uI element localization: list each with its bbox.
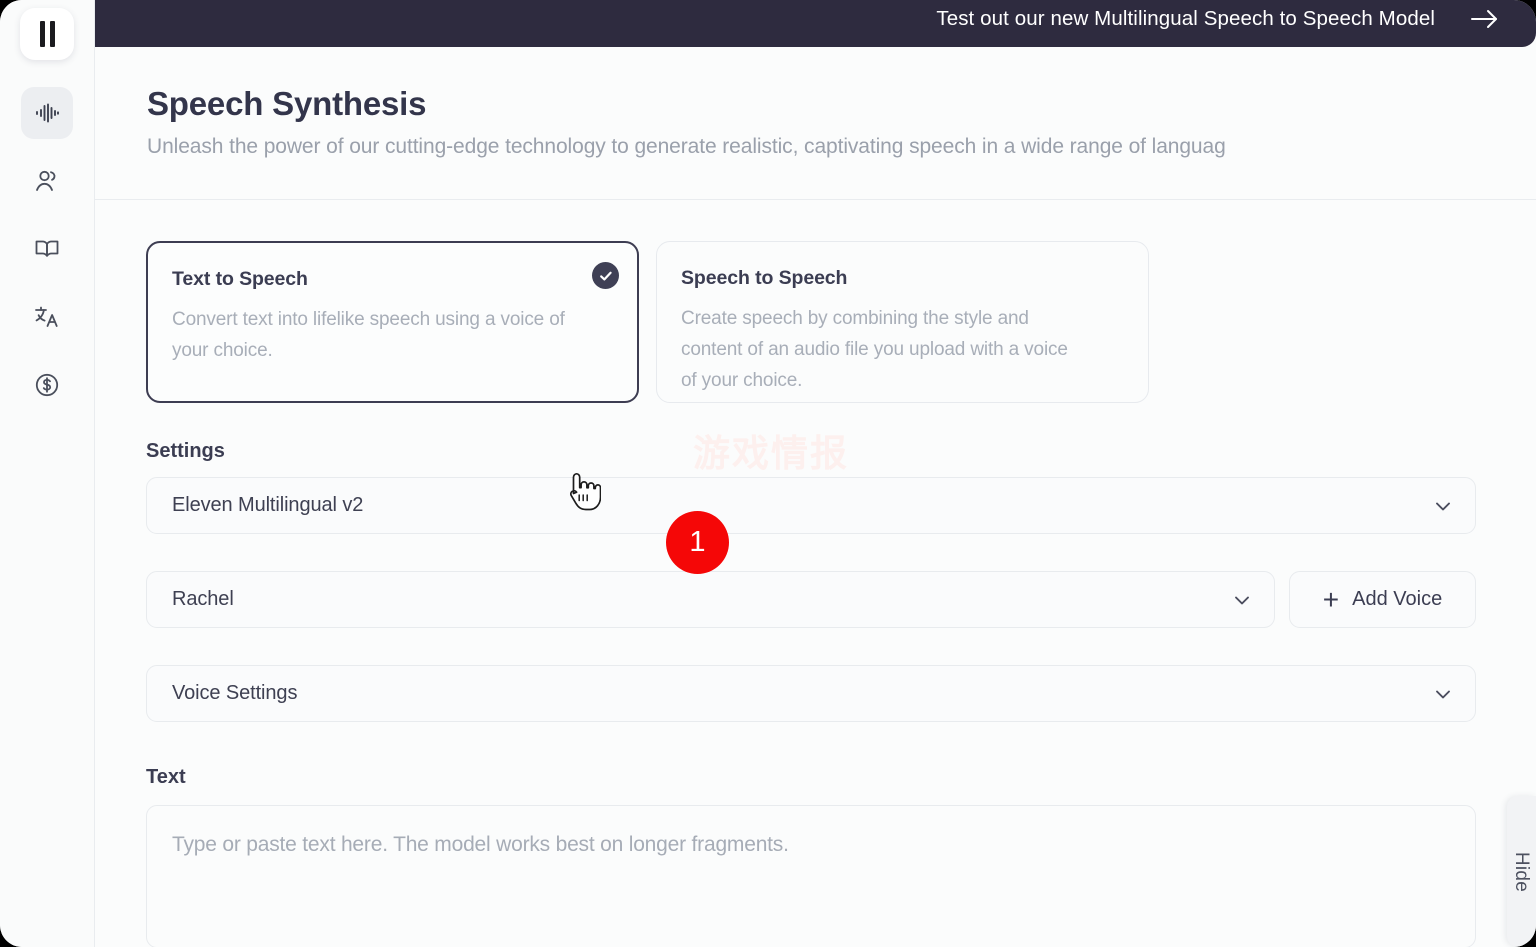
mode-card-speech-to-speech[interactable]: Speech to Speech Create speech by combin… — [656, 241, 1149, 403]
chevron-down-icon[interactable] — [1432, 683, 1454, 705]
mode-card-title: Speech to Speech — [681, 267, 1121, 290]
voice-select-row: Rachel + Add Voice — [146, 571, 1476, 628]
promo-banner[interactable]: Test out our new Multilingual Speech to … — [95, 0, 1536, 47]
watermark-line-cn: 游戏情报 — [665, 432, 877, 476]
mode-card-title: Text to Speech — [172, 268, 610, 291]
voices-people-icon — [32, 166, 62, 196]
voice-settings-row: Voice Settings — [146, 665, 1476, 722]
check-circle-icon — [592, 262, 619, 289]
page-title: Speech Synthesis — [147, 85, 426, 123]
voice-settings-select[interactable]: Voice Settings — [146, 665, 1476, 722]
sidebar-item-projects[interactable] — [21, 223, 73, 275]
mode-card-description: Create speech by combining the style and… — [681, 303, 1081, 396]
sidebar-item-speech-synthesis[interactable] — [21, 87, 73, 139]
sidebar-item-voices[interactable] — [21, 155, 73, 207]
chevron-down-icon[interactable] — [1432, 495, 1454, 517]
model-select-value: Eleven Multilingual v2 — [172, 494, 363, 517]
open-book-icon — [32, 234, 62, 264]
sidebar-item-subscription[interactable] — [21, 359, 73, 411]
add-voice-label: Add Voice — [1352, 588, 1442, 611]
step-badge-number: 1 — [689, 526, 705, 559]
text-section-label: Text — [146, 766, 186, 789]
mode-card-description: Convert text into lifelike speech using … — [172, 304, 572, 366]
text-input[interactable]: Type or paste text here. The model works… — [146, 805, 1476, 947]
app-window: Test out our new Multilingual Speech to … — [0, 0, 1536, 947]
audio-waveform-icon — [32, 98, 62, 128]
mode-card-text-to-speech[interactable]: Text to Speech Convert text into lifelik… — [146, 241, 639, 403]
main-content: 游戏情报 Gamedivert Text to Speech Convert t… — [95, 200, 1536, 947]
plus-icon: + — [1323, 589, 1339, 611]
chevron-down-icon[interactable] — [1231, 589, 1253, 611]
app-logo-button[interactable] — [20, 8, 74, 60]
hide-panel-toggle-label: Hide — [1511, 851, 1533, 891]
model-select[interactable]: Eleven Multilingual v2 — [146, 477, 1476, 534]
text-input-placeholder: Type or paste text here. The model works… — [172, 833, 789, 856]
add-voice-button[interactable]: + Add Voice — [1289, 571, 1476, 628]
promo-banner-text: Test out our new Multilingual Speech to … — [936, 7, 1435, 31]
page-header: Speech Synthesis Unleash the power of ou… — [95, 47, 1536, 200]
hide-panel-toggle[interactable]: Hide — [1507, 796, 1536, 947]
mode-card-group: Text to Speech Convert text into lifelik… — [146, 241, 1149, 403]
voice-settings-value: Voice Settings — [172, 682, 297, 705]
dollar-coin-icon — [32, 370, 62, 400]
left-icon-rail — [0, 0, 95, 947]
sidebar-item-dubbing[interactable] — [21, 291, 73, 343]
model-select-row: Eleven Multilingual v2 — [146, 477, 1476, 534]
pause-bars-logo-icon-left — [40, 21, 45, 47]
pause-bars-logo-icon-right — [50, 21, 55, 47]
voice-select[interactable]: Rachel — [146, 571, 1275, 628]
settings-section-label: Settings — [146, 440, 225, 463]
page-subtitle: Unleash the power of our cutting-edge te… — [147, 135, 1226, 159]
step-badge-1: 1 — [666, 511, 729, 574]
arrow-right-icon[interactable] — [1469, 6, 1500, 32]
voice-select-value: Rachel — [172, 588, 234, 611]
translate-icon — [32, 302, 62, 332]
